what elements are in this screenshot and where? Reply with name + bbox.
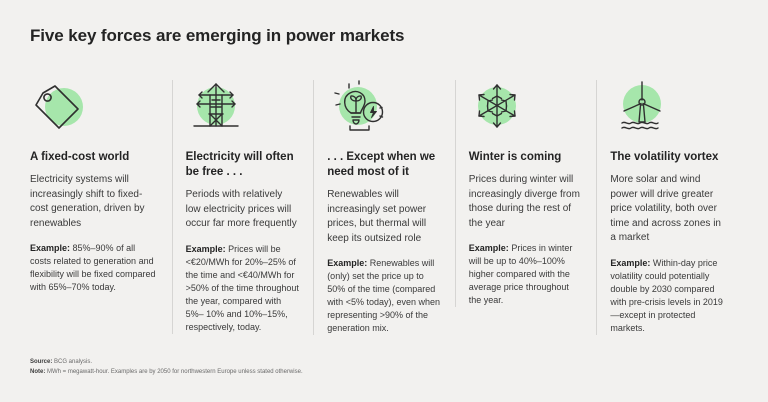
example-label: Example: [186,244,226,254]
transmission-tower-icon [186,80,250,136]
force-card-3: . . . Except when we need most of it Ren… [313,80,455,335]
footnote-note: Note: MWh = megawatt-hour. Examples are … [30,368,303,378]
card-title: The volatility vortex [610,150,724,165]
card-body: More solar and wind power will drive gre… [610,173,724,246]
card-body: Prices during winter will increasingly d… [469,173,583,231]
example-label: Example: [30,243,70,253]
note-label: Note: [30,369,45,375]
infographic-canvas: Five key forces are emerging in power ma… [0,0,768,402]
offshore-wind-turbine-icon [610,80,674,136]
card-example: Example: Within-day price volatility cou… [610,257,724,335]
card-title: . . . Except when we need most of it [327,150,441,180]
example-label: Example: [327,258,367,268]
example-text: Within-day price volatility could potent… [610,258,723,333]
card-example: Example: 85%–90% of all costs related to… [30,242,158,294]
card-title: A fixed-cost world [30,150,158,165]
card-body: Electricity systems will increasingly sh… [30,173,158,231]
note-text: MWh = megawatt-hour. Examples are by 205… [45,369,302,375]
example-text: Renewables will (only) set the price up … [327,258,440,333]
source-text: BCG analysis. [52,359,92,365]
price-tag-icon [30,80,94,136]
example-label: Example: [610,258,650,268]
footnotes: Source: BCG analysis. Note: MWh = megawa… [30,358,303,377]
force-card-4: Winter is coming Prices during winter wi… [455,80,597,307]
card-title: Electricity will often be free . . . [186,150,300,180]
card-body: Renewables will increasingly set power p… [327,188,441,246]
footnote-source: Source: BCG analysis. [30,358,303,368]
example-label: Example: [469,243,509,253]
source-label: Source: [30,359,52,365]
force-card-5: The volatility vortex More solar and win… [596,80,738,335]
lightbulb-energy-icon [327,80,391,136]
card-body: Periods with relatively low electricity … [186,188,300,232]
card-example: Example: Renewables will (only) set the … [327,257,441,335]
force-card-1: A fixed-cost world Electricity systems w… [30,80,172,294]
card-example: Example: Prices will be <€20/MWh for 20%… [186,243,300,334]
snowflake-icon [469,80,533,136]
example-text: Prices will be <€20/MWh for 20%–25% of t… [186,244,299,332]
page-title: Five key forces are emerging in power ma… [30,26,404,46]
force-card-2: Electricity will often be free . . . Per… [172,80,314,334]
forces-columns: A fixed-cost world Electricity systems w… [30,80,738,335]
card-example: Example: Prices in winter will be up to … [469,242,583,307]
card-title: Winter is coming [469,150,583,165]
